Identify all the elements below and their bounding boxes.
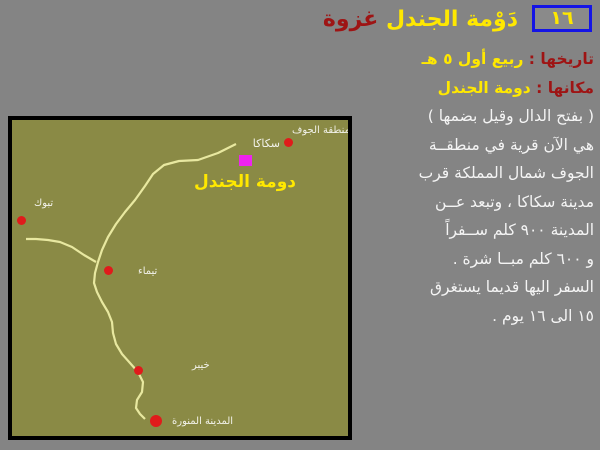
body-line-8: ١٥ الى ١٦ يوم . — [344, 307, 594, 326]
marker-dumat-al-jandal — [239, 155, 252, 166]
map-label-region: منطقة الجوف — [292, 125, 350, 137]
info-value-date: ربيع أول ٥ هـ — [422, 50, 524, 68]
body-line-3: الجوف شمال المملكة قرب — [344, 164, 594, 183]
info-line-place: مكانها : دومة الجندل — [344, 79, 594, 98]
city-dot-medina — [150, 415, 162, 427]
slide-header: دَوْمة الجندل غزوة ١٦ — [0, 0, 600, 44]
body-line-7: السفر اليها قديما يستغرق — [344, 278, 594, 297]
content-text-panel: تاريخها : ربيع أول ٥ هـ مكانها : دومة ال… — [344, 50, 594, 335]
info-label-date: تاريخها : — [529, 50, 594, 68]
map-label-sakaka: سكاكا — [253, 138, 280, 150]
info-label-place: مكانها : — [536, 79, 594, 97]
page-title: دَوْمة الجندل غزوة — [323, 6, 518, 34]
body-line-4: مدينة سكاكا ، وتبعد عــن — [344, 193, 594, 212]
info-value-place: دومة الجندل — [438, 79, 531, 97]
info-line-date: تاريخها : ربيع أول ٥ هـ — [344, 50, 594, 69]
map-label-tabuk: تبوك — [34, 198, 53, 210]
map-label-medina: المدينة المنورة — [172, 416, 233, 428]
map-label-dumat-al-jandal: دومة الجندل — [194, 172, 296, 192]
body-line-2: هي الآن قرية في منطقــة — [344, 136, 594, 155]
city-dot-sakaka — [284, 138, 293, 147]
title-keyword-text: غزوة — [323, 7, 378, 32]
city-dot-tayma — [104, 266, 113, 275]
city-dot-khaybar — [134, 366, 143, 375]
map-label-khaybar: خيبر — [192, 360, 210, 372]
city-dot-tabuk — [17, 216, 26, 225]
body-line-1: ( بفتح الدال وقيل بضمها ) — [344, 107, 594, 126]
slide-number-badge: ١٦ — [532, 5, 592, 32]
map-panel: منطقة الجوف سكاكا دومة الجندل تبوك تيماء… — [8, 116, 352, 440]
body-line-5: المدينة ٩٠٠ كلم ســفراً — [344, 221, 594, 240]
map-label-tayma: تيماء — [138, 266, 157, 278]
map-roads-graphic — [12, 120, 348, 436]
title-main-text: دَوْمة الجندل — [386, 7, 518, 32]
body-line-6: و ٦٠٠ كلم مبــا شرة . — [344, 250, 594, 269]
